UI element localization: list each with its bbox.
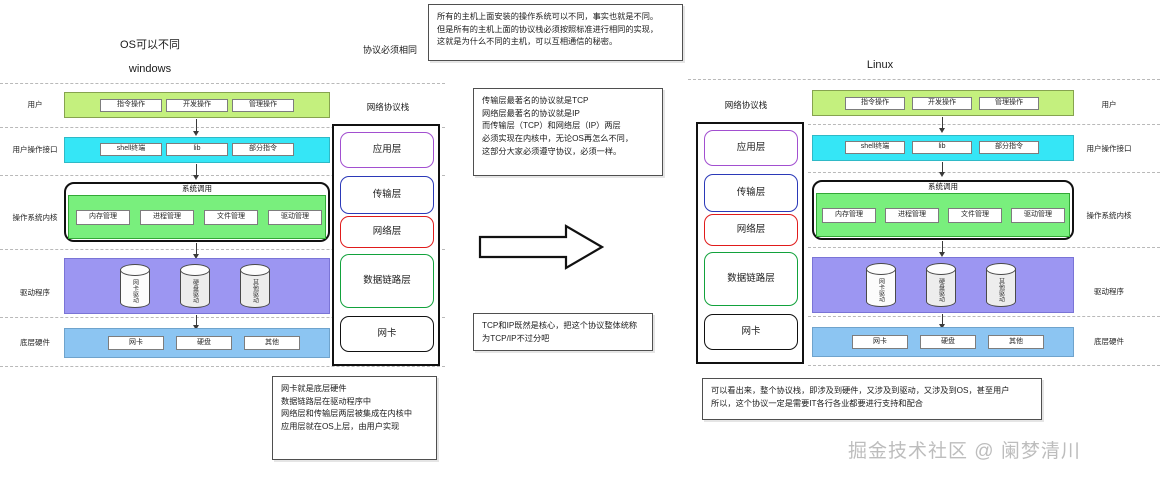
cylinder-label-wrap: 其他驱动 <box>986 274 1016 305</box>
note-top: 所有的主机上面安装的操作系统可以不同，事实也就是不同。 但是所有的主机上面的协议… <box>428 4 683 61</box>
chip-hw-1-right[interactable]: 硬盘 <box>920 335 976 349</box>
separator-top-right <box>688 79 1160 80</box>
row-label-user-right: 用户 <box>1082 98 1136 112</box>
chip-user-2-right[interactable]: 管理操作 <box>979 97 1039 110</box>
protocol-layer-network-right[interactable]: 网络层 <box>704 214 798 246</box>
cylinder-label-1-left: 硬盘驱动 <box>191 279 200 303</box>
chip-kernel-0-left[interactable]: 内存管理 <box>76 210 130 225</box>
row-label-hardware-right: 底层硬件 <box>1080 335 1138 349</box>
diagram-canvas: OS可以不同 windows Linux 协议必须相同 用户 用户操作接口 操作… <box>0 0 1160 482</box>
note-bottom-left: 网卡就是底层硬件 数据链路层在驱动程序中 网络层和传输层两层被集成在内核中 应用… <box>272 376 437 460</box>
chip-kernel-1-left[interactable]: 进程管理 <box>140 210 194 225</box>
cylinder-label-1-right: 硬盘驱动 <box>937 278 946 302</box>
chip-iface-1-left[interactable]: lib <box>166 143 228 156</box>
note-middle-lower: TCP和IP既然是核心，把这个协议整体统称 为TCP/IP不过分吧 <box>473 313 653 351</box>
cylinder-label-wrap: 网卡驱动 <box>866 274 896 305</box>
chip-hw-0-left[interactable]: 网卡 <box>108 336 164 350</box>
cylinder-driver-2-right: 其他驱动 <box>986 263 1016 307</box>
chip-kernel-3-right[interactable]: 驱动管理 <box>1011 208 1065 223</box>
protocol-layer-transport-right[interactable]: 传输层 <box>704 174 798 212</box>
row-label-user-interface-right: 用户操作接口 <box>1074 142 1144 156</box>
watermark: 掘金技术社区 @ 阑梦清川 <box>848 436 1081 463</box>
title-os-may-differ: OS可以不同 <box>90 38 210 52</box>
stack-title-right: 网络协议栈 <box>700 99 792 113</box>
protocol-layer-datalink-left[interactable]: 数据链路层 <box>340 254 434 308</box>
arrowhead-iface-kernel-right <box>939 172 945 177</box>
title-linux: Linux <box>820 58 940 72</box>
protocol-layer-nic-right[interactable]: 网卡 <box>704 314 798 350</box>
protocol-stack-left: 应用层 传输层 网络层 数据链路层 网卡 <box>332 124 440 366</box>
protocol-layer-app-left[interactable]: 应用层 <box>340 132 434 168</box>
chip-kernel-2-left[interactable]: 文件管理 <box>204 210 258 225</box>
chip-kernel-1-right[interactable]: 进程管理 <box>885 208 939 223</box>
separator-driver-right <box>808 316 1160 317</box>
row-label-driver-right: 驱动程序 <box>1080 285 1138 299</box>
big-right-arrow-icon <box>478 224 604 270</box>
row-label-user-interface-left: 用户操作接口 <box>2 143 68 157</box>
separator-user-right <box>808 124 1160 125</box>
cylinder-driver-1-right: 硬盘驱动 <box>926 263 956 307</box>
row-label-driver-left: 驱动程序 <box>6 286 64 300</box>
cylinder-label-2-left: 其他驱动 <box>251 279 260 303</box>
chip-kernel-3-left[interactable]: 驱动管理 <box>268 210 322 225</box>
cylinder-driver-0-left: 网卡驱动 <box>120 264 150 308</box>
cylinder-label-wrap: 硬盘驱动 <box>180 275 210 306</box>
protocol-layer-network-left[interactable]: 网络层 <box>340 216 434 248</box>
cylinder-driver-1-left: 硬盘驱动 <box>180 264 210 308</box>
chip-hw-0-right[interactable]: 网卡 <box>852 335 908 349</box>
row-label-user-left: 用户 <box>8 98 62 112</box>
cylinder-label-wrap: 硬盘驱动 <box>926 274 956 305</box>
separator-top-left <box>0 83 445 84</box>
stack-title-left: 网络协议栈 <box>342 101 434 115</box>
chip-iface-2-left[interactable]: 部分指令 <box>232 143 294 156</box>
separator-iface-right <box>808 172 1160 173</box>
arrowhead-user-iface-left <box>193 131 199 136</box>
chip-iface-1-right[interactable]: lib <box>912 141 972 154</box>
row-label-hardware-left: 底层硬件 <box>6 336 64 350</box>
cylinder-driver-0-right: 网卡驱动 <box>866 263 896 307</box>
chip-user-0-left[interactable]: 指令操作 <box>100 99 162 112</box>
chip-iface-0-right[interactable]: shell终端 <box>845 141 905 154</box>
protocol-layer-transport-left[interactable]: 传输层 <box>340 176 434 214</box>
protocol-layer-datalink-right[interactable]: 数据链路层 <box>704 252 798 306</box>
syscall-label-right: 系统调用 <box>812 182 1074 192</box>
chip-kernel-0-right[interactable]: 内存管理 <box>822 208 876 223</box>
row-label-kernel-left: 操作系统内核 <box>2 211 68 225</box>
arrowhead-iface-kernel-left <box>193 175 199 180</box>
chip-user-1-left[interactable]: 开发操作 <box>166 99 228 112</box>
syscall-label-left: 系统调用 <box>64 184 330 194</box>
note-middle-upper: 传输层最著名的协议就是TCP 网络层最著名的协议就是IP 而传输层（TCP）和网… <box>473 88 663 176</box>
chip-user-1-right[interactable]: 开发操作 <box>912 97 972 110</box>
cylinder-label-0-right: 网卡驱动 <box>877 278 886 302</box>
chip-kernel-2-right[interactable]: 文件管理 <box>948 208 1002 223</box>
cylinder-label-0-left: 网卡驱动 <box>131 279 140 303</box>
chip-hw-2-left[interactable]: 其他 <box>244 336 300 350</box>
row-label-kernel-right: 操作系统内核 <box>1074 209 1144 223</box>
chip-hw-2-right[interactable]: 其他 <box>988 335 1044 349</box>
cylinder-label-wrap: 其他驱动 <box>240 275 270 306</box>
arrowhead-user-iface-right <box>939 128 945 133</box>
title-windows: windows <box>90 62 210 76</box>
cylinder-driver-2-left: 其他驱动 <box>240 264 270 308</box>
chip-user-0-right[interactable]: 指令操作 <box>845 97 905 110</box>
chip-iface-2-right[interactable]: 部分指令 <box>979 141 1039 154</box>
cylinder-label-2-right: 其他驱动 <box>997 278 1006 302</box>
chip-user-2-left[interactable]: 管理操作 <box>232 99 294 112</box>
separator-hw-left <box>0 366 445 367</box>
separator-hw-right <box>808 365 1160 366</box>
cylinder-label-wrap: 网卡驱动 <box>120 275 150 306</box>
protocol-layer-nic-left[interactable]: 网卡 <box>340 316 434 352</box>
chip-iface-0-left[interactable]: shell终端 <box>100 143 162 156</box>
chip-hw-1-left[interactable]: 硬盘 <box>176 336 232 350</box>
note-bottom-right: 可以看出来，整个协议栈，即涉及到硬件，又涉及到驱动，又涉及到OS，甚至用户 所以… <box>702 378 1042 420</box>
protocol-layer-app-right[interactable]: 应用层 <box>704 130 798 166</box>
protocol-stack-right: 应用层 传输层 网络层 数据链路层 网卡 <box>696 122 804 364</box>
separator-kernel-right <box>808 247 1160 248</box>
